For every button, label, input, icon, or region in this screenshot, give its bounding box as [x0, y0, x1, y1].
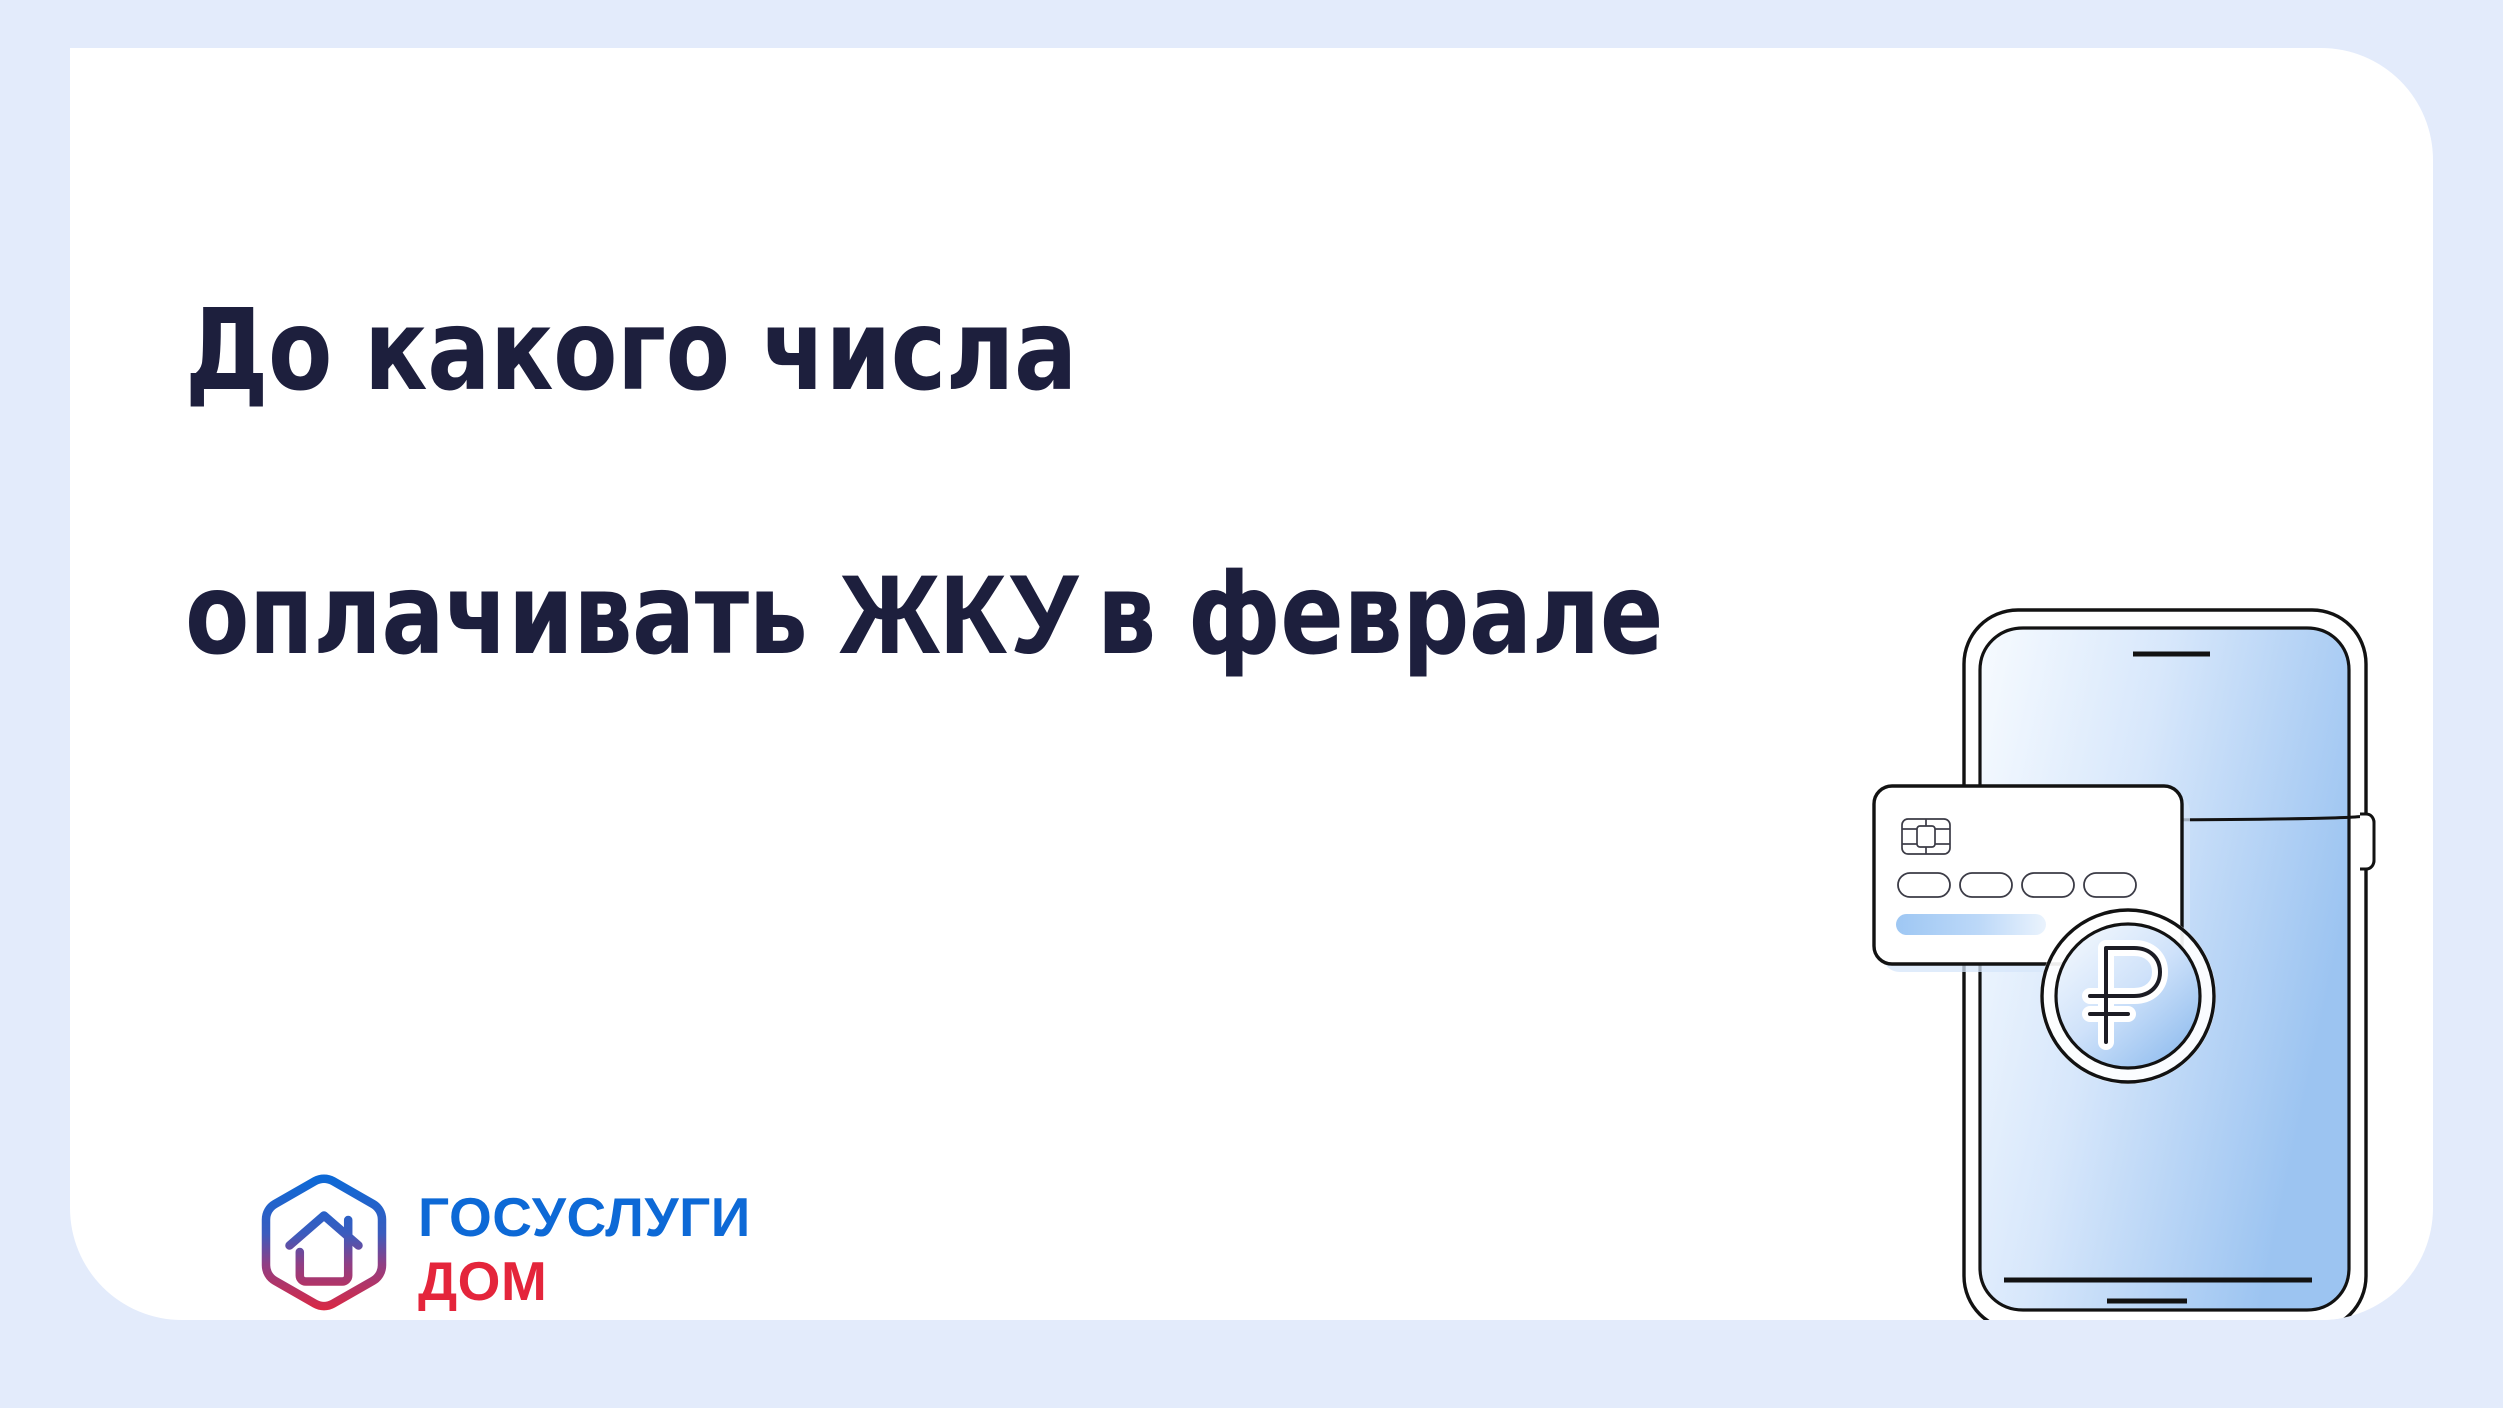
page-title-line-2-suffix: в феврале — [1065, 550, 1663, 680]
content-card: До какого числа оплачивать ЖКУ в феврале — [70, 48, 2433, 1320]
page-title: До какого числа оплачивать ЖКУ в феврале — [185, 153, 1822, 814]
page-title-emphasis-zhku: ЖКУ — [840, 549, 1079, 681]
poster-canvas: До какого числа оплачивать ЖКУ в феврале — [0, 0, 2503, 1408]
brand-logo-word-dom: ДОМ — [418, 1254, 751, 1309]
brand-logo-word-gosuslugi: ГОСУСЛУГИ — [418, 1190, 751, 1245]
page-title-line-2: оплачивать ЖКУ в феврале — [185, 549, 1822, 681]
card-stripe — [1896, 914, 2046, 935]
page-title-line-2-prefix: оплачивать — [185, 550, 840, 680]
payment-illustration — [1860, 608, 2433, 1320]
brand-logo[interactable]: ГОСУСЛУГИ ДОМ — [256, 1174, 751, 1320]
brand-logo-wordmark: ГОСУСЛУГИ ДОМ — [418, 1186, 751, 1309]
gosuslugi-dom-house-icon — [256, 1174, 392, 1320]
ruble-coin — [2040, 908, 2216, 1084]
page-title-line-1: До какого числа — [185, 285, 1822, 417]
